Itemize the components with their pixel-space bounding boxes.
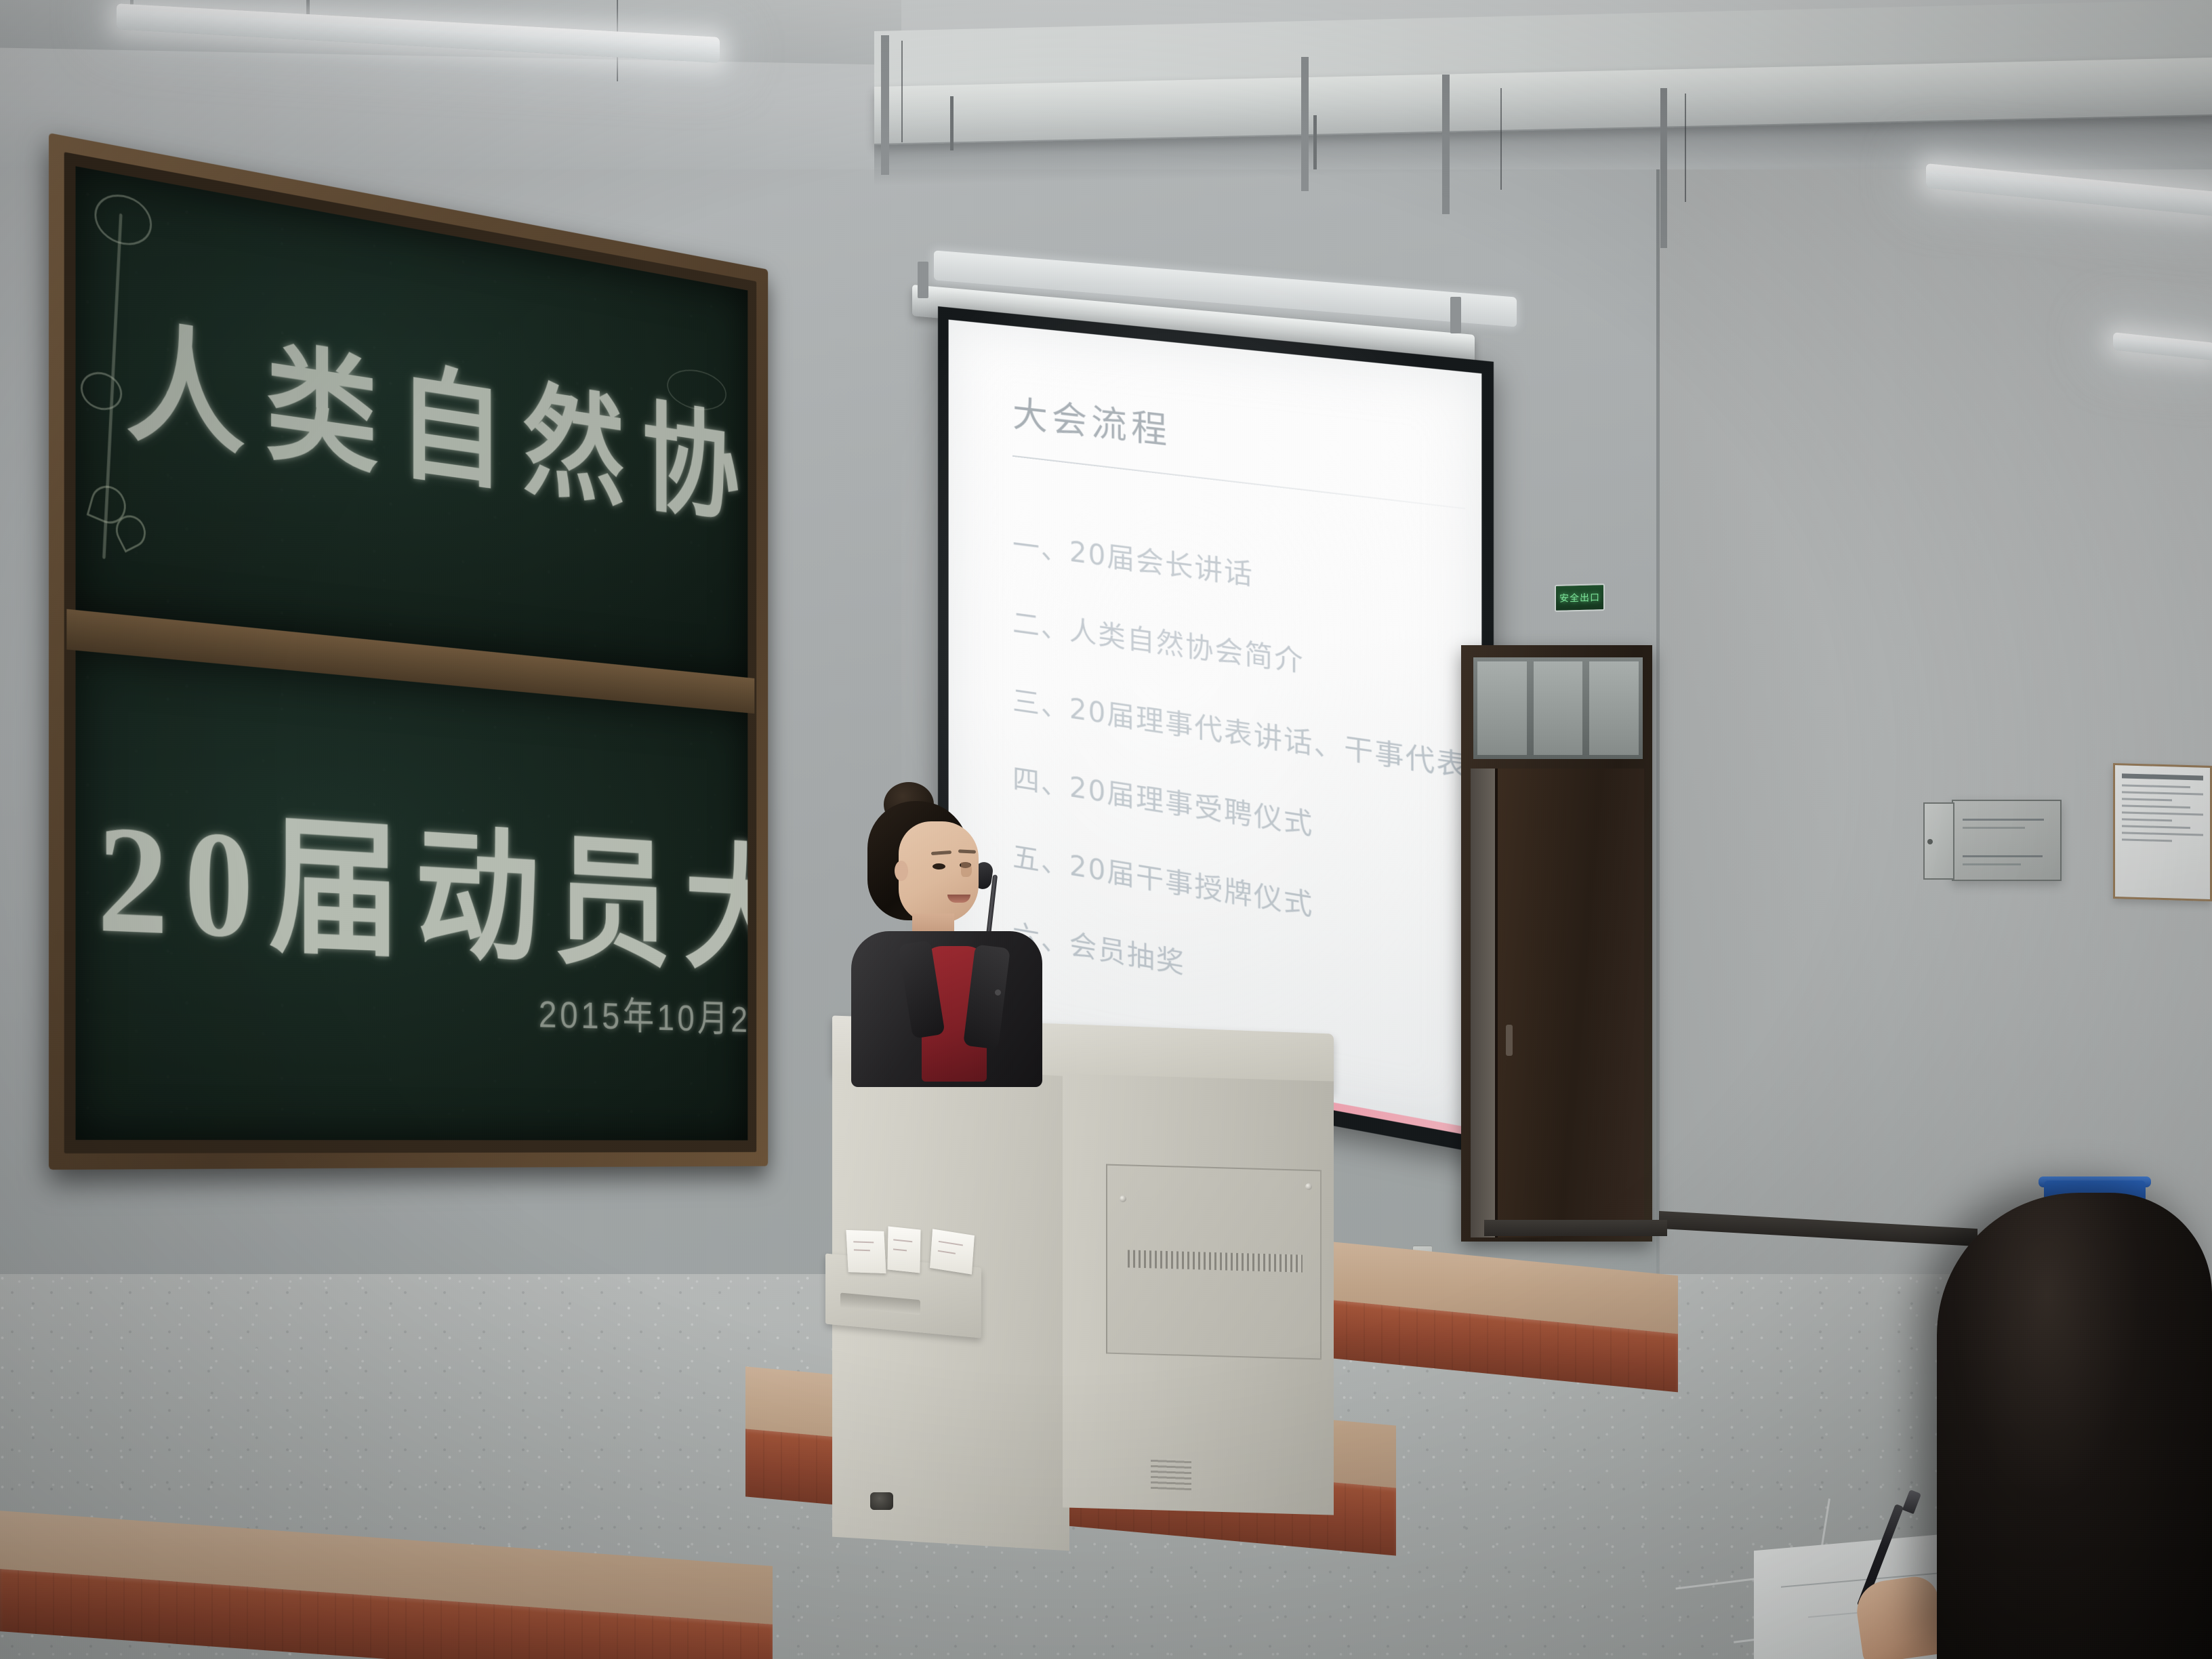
speaker-eye-left <box>933 863 945 869</box>
slide-title: 大会流程 <box>1012 385 1441 485</box>
classroom-door[interactable] <box>1461 645 1652 1242</box>
speaker-ear <box>895 861 908 881</box>
hanging-wire-1 <box>901 41 903 142</box>
podium-screw-right <box>1305 1183 1312 1190</box>
poster-line-4 <box>2122 804 2190 808</box>
paper-ink-line <box>854 1249 870 1251</box>
paper-ink-line <box>893 1239 912 1242</box>
poster-line-7 <box>2122 825 2190 829</box>
transom-pane-2 <box>1534 661 1583 755</box>
control-box-label-line-1 <box>1963 819 2044 821</box>
agenda-item-2: 二、人类自然协会简介 <box>1012 600 1441 699</box>
wall-notice-poster <box>2113 763 2212 901</box>
chalkboard-panel-bottom: 20届动员大会 2015年10月29 <box>76 651 748 1141</box>
control-box-knob[interactable] <box>1927 839 1933 844</box>
control-box-door[interactable] <box>1923 802 1954 880</box>
slide-agenda-list: 一、20届会长讲话 二、人类自然协会简介 三、20届理事代表讲话、干事代表讲话、… <box>1012 523 1441 1027</box>
light-hanger-3 <box>950 96 954 150</box>
wall-corner-seam <box>1656 81 1660 1301</box>
agenda-item-1: 一、20届会长讲话 <box>1012 523 1441 617</box>
paper-ink-line <box>853 1241 874 1243</box>
baseboard-corner <box>1484 1220 1667 1236</box>
speaker-person <box>855 786 1038 1078</box>
hanging-wire-3 <box>1500 88 1502 190</box>
transom-pane-1 <box>1477 661 1527 755</box>
poster-heading <box>2122 773 2203 780</box>
chalkboard: 人类自然协会 20届动员大会 2015年10月29 <box>49 133 768 1170</box>
podium-screw-left <box>1120 1195 1126 1202</box>
ceiling-conduit-2 <box>1301 57 1309 191</box>
speaker-jacket-button <box>995 989 1001 996</box>
podium-lower-vent <box>1151 1458 1191 1490</box>
light-hanger-4 <box>1313 115 1317 169</box>
door-jamb <box>1471 769 1496 1237</box>
control-box-label-line-2 <box>1963 827 2025 829</box>
podium-knob[interactable] <box>870 1492 893 1510</box>
chalkboard-date-text: 2015年10月29 <box>539 983 748 1043</box>
emergency-exit-sign: 安全出口 <box>1555 583 1605 612</box>
poster-line-6 <box>2122 818 2172 821</box>
podium-paper-3[interactable] <box>930 1229 975 1274</box>
door-leaf[interactable] <box>1495 769 1644 1237</box>
podium[interactable] <box>832 1025 1334 1560</box>
screen-bracket-right <box>1450 297 1461 333</box>
poster-line-3 <box>2122 798 2172 801</box>
poster-line-2 <box>2122 791 2203 795</box>
transom-pane-3 <box>1589 661 1639 755</box>
paper-ink-line <box>938 1250 956 1254</box>
control-box-label-line-4 <box>1963 863 2021 865</box>
paper-ink-line <box>939 1241 963 1246</box>
exit-sign-label: 安全出口 <box>1559 590 1600 605</box>
electrical-control-box[interactable] <box>1952 800 2062 881</box>
podium-paper-1[interactable] <box>846 1230 886 1273</box>
ceiling-conduit-4 <box>1660 88 1667 248</box>
screen-bracket-left <box>918 262 928 298</box>
hanging-wire-4 <box>1685 94 1686 202</box>
speaker-nose <box>961 862 972 877</box>
poster-line-1 <box>2122 784 2190 788</box>
podium-tray-slot <box>840 1293 920 1315</box>
ceiling-conduit-3 <box>1442 75 1450 214</box>
podium-paper-2[interactable] <box>887 1227 920 1273</box>
ceiling-conduit-1 <box>881 35 889 175</box>
foreground-audience-person <box>1937 1193 2212 1659</box>
classroom-scene: 人类自然协会 20届动员大会 2015年10月29 大会流程 一、20届会长讲话… <box>0 0 2212 1659</box>
poster-line-5 <box>2122 811 2203 815</box>
poster-line-8 <box>2122 832 2203 836</box>
door-handle[interactable] <box>1506 1025 1513 1056</box>
paper-ink-line <box>893 1248 907 1251</box>
poster-line-9 <box>2122 838 2172 842</box>
door-transom-window <box>1473 657 1643 759</box>
control-box-label-line-3 <box>1963 855 2043 857</box>
